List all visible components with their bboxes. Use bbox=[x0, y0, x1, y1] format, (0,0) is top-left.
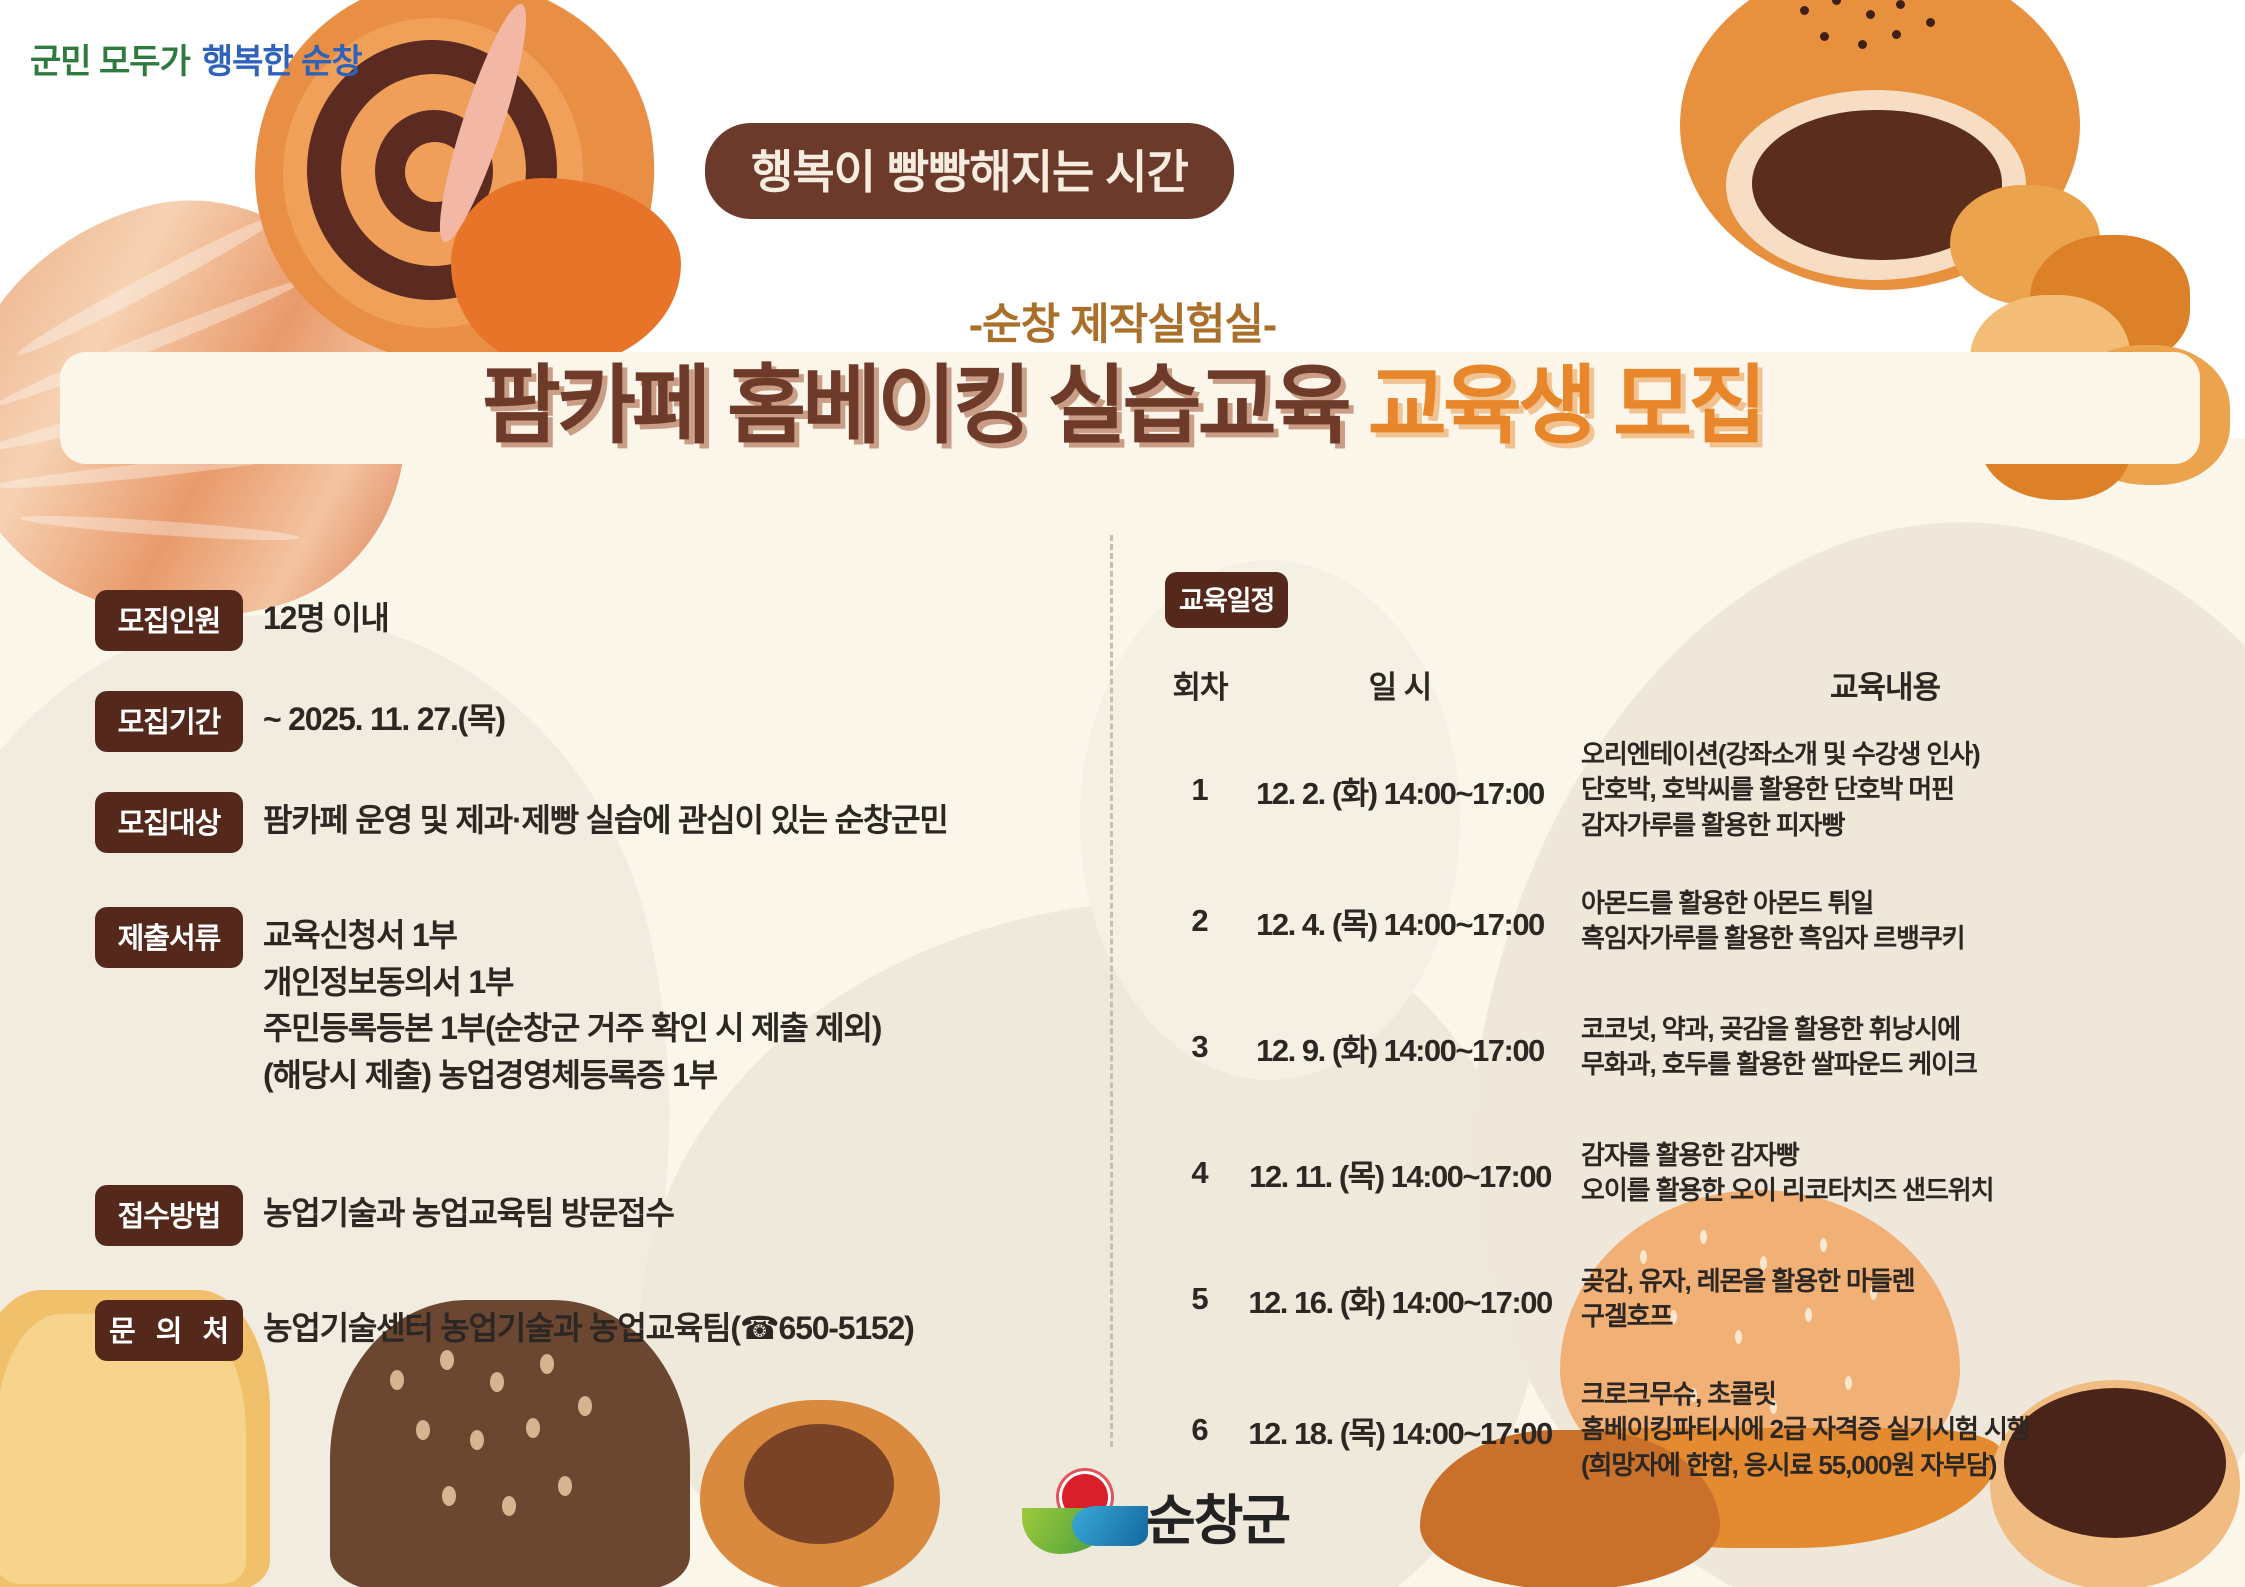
schedule-content-highlight: 피자빵 bbox=[1776, 810, 1844, 840]
info-row: 문 의 처 농업기술센터 농업기술과 농업교육팀(☎650-5152) bbox=[95, 1300, 1095, 1361]
schedule-session-number: 3 bbox=[1165, 1029, 1235, 1065]
poster-subtitle: -순창 제작실험실- bbox=[0, 290, 2245, 352]
info-row: 모집대상 팜카페 운영 및 제과·제빵 실습에 관심이 있는 순창군민 bbox=[95, 792, 1095, 853]
info-label: 모집인원 bbox=[95, 590, 243, 651]
page-title-brown: 팜카페 홈베이킹 실습교육 bbox=[482, 358, 1348, 454]
schedule-row: 212. 4. (목) 14:00~17:00아몬드를 활용한 아몬드 튀일흑임… bbox=[1165, 873, 2205, 969]
info-row: 모집인원 12명 이내 bbox=[95, 590, 1095, 651]
schedule-label: 교육일정 bbox=[1165, 572, 1288, 628]
schedule-content: 코코넛, 약과, 곶감을 활용한 휘낭시에무화과, 호두를 활용한 쌀파운드 케… bbox=[1565, 1012, 2205, 1083]
schedule-content-highlight: 구겔호프 bbox=[1581, 1301, 1672, 1331]
schedule-content-highlight: 휘낭시에 bbox=[1869, 1014, 1960, 1044]
page-title: 팜카페 홈베이킹 실습교육 교육생 모집 bbox=[0, 357, 2245, 456]
schedule-content-highlight: 흑임자 르뱅쿠키 bbox=[1799, 923, 1965, 953]
schedule-content-highlight: 감자빵 bbox=[1730, 1140, 1798, 1170]
schedule-content-line: 감자를 활용한 감자빵 bbox=[1581, 1138, 2205, 1173]
schedule-content-line: 무화과, 호두를 활용한 쌀파운드 케이크 bbox=[1581, 1047, 2205, 1082]
schedule-datetime: 12. 9. (화) 14:00~17:00 bbox=[1235, 1025, 1565, 1070]
poster-root: 군민 모두가행복한 순창 행복이 빵빵해지는 시간 -순창 제작실험실- 팜카페… bbox=[0, 0, 2245, 1587]
schedule-row: 512. 16. (화) 14:00~17:00곶감, 유자, 레몬을 활용한 … bbox=[1165, 1251, 2205, 1347]
schedule-content-highlight: 아몬드 튀일 bbox=[1753, 888, 1873, 918]
schedule-content-line: 코코넛, 약과, 곶감을 활용한 휘낭시에 bbox=[1581, 1012, 2205, 1047]
schedule-content-line: 단호박, 호박씨를 활용한 단호박 머핀 bbox=[1581, 772, 2205, 807]
info-value: 12명 이내 bbox=[263, 590, 389, 642]
schedule-content-highlight: 크로크무슈, 초콜릿 bbox=[1581, 1379, 1776, 1409]
schedule-content-line: 곶감, 유자, 레몬을 활용한 마들렌 bbox=[1581, 1264, 2205, 1299]
schedule-content: 크로크무슈, 초콜릿홈베이킹파티시에 2급 자격증 실기시험 시행(희망자에 한… bbox=[1565, 1377, 2205, 1483]
schedule-content-highlight: 쌀파운드 케이크 bbox=[1811, 1049, 1977, 1079]
schedule-content-line: 홈베이킹파티시에 2급 자격증 실기시험 시행 bbox=[1581, 1412, 2205, 1447]
vertical-divider bbox=[1110, 535, 1113, 1447]
county-name-text: 순창군 bbox=[1146, 1476, 1289, 1555]
schedule-content: 아몬드를 활용한 아몬드 튀일흑임자가루를 활용한 흑임자 르뱅쿠키 bbox=[1565, 886, 2205, 957]
schedule-content-line: 크로크무슈, 초콜릿 bbox=[1581, 1377, 2205, 1412]
schedule-content-line: 오이를 활용한 오이 리코타치즈 샌드위치 bbox=[1581, 1173, 2205, 1208]
tagline-badge: 행복이 빵빵해지는 시간 bbox=[705, 123, 1234, 219]
info-value: 팜카페 운영 및 제과·제빵 실습에 관심이 있는 순창군민 bbox=[263, 792, 948, 844]
info-row: 모집기간 ~ 2025. 11. 27.(목) bbox=[95, 691, 1095, 752]
county-logo: 순창군 bbox=[1020, 1472, 1289, 1558]
schedule-content: 오리엔테이션(강좌소개 및 수강생 인사)단호박, 호박씨를 활용한 단호박 머… bbox=[1565, 737, 2205, 843]
schedule-table-body: 112. 2. (화) 14:00~17:00오리엔테이션(강좌소개 및 수강생… bbox=[1165, 737, 2205, 1483]
schedule-row: 412. 11. (목) 14:00~17:00감자를 활용한 감자빵오이를 활… bbox=[1165, 1125, 2205, 1221]
info-label: 제출서류 bbox=[95, 907, 243, 968]
schedule-content-line: 아몬드를 활용한 아몬드 튀일 bbox=[1581, 886, 2205, 921]
schedule-datetime: 12. 2. (화) 14:00~17:00 bbox=[1235, 768, 1565, 813]
schedule-table-header: 회차 일 시 교육내용 bbox=[1165, 662, 2205, 707]
schedule-row: 612. 18. (목) 14:00~17:00크로크무슈, 초콜릿홈베이킹파티… bbox=[1165, 1377, 2205, 1483]
schedule-content-line: 오리엔테이션(강좌소개 및 수강생 인사) bbox=[1581, 737, 2205, 772]
column-header-datetime: 일 시 bbox=[1235, 662, 1565, 707]
info-label: 접수방법 bbox=[95, 1185, 243, 1246]
schedule-datetime: 12. 18. (목) 14:00~17:00 bbox=[1235, 1408, 1565, 1453]
schedule-datetime: 12. 4. (목) 14:00~17:00 bbox=[1235, 899, 1565, 944]
slogan-green-text: 군민 모두가 bbox=[30, 43, 190, 81]
info-value: 농업기술센터 농업기술과 농업교육팀(☎650-5152) bbox=[263, 1300, 913, 1352]
info-label: 모집대상 bbox=[95, 792, 243, 853]
info-row: 접수방법 농업기술과 농업교육팀 방문접수 bbox=[95, 1185, 1095, 1246]
schedule-session-number: 1 bbox=[1165, 772, 1235, 808]
info-value: 농업기술과 농업교육팀 방문접수 bbox=[263, 1185, 674, 1237]
schedule-content-highlight: 단호박 머핀 bbox=[1834, 774, 1954, 804]
schedule-datetime: 12. 11. (목) 14:00~17:00 bbox=[1235, 1151, 1565, 1196]
sunchang-emblem-icon bbox=[1020, 1472, 1130, 1558]
schedule-session-number: 4 bbox=[1165, 1155, 1235, 1191]
blue-wave-icon bbox=[1072, 1506, 1148, 1546]
schedule-session-number: 2 bbox=[1165, 903, 1235, 939]
column-header-no: 회차 bbox=[1165, 662, 1235, 707]
schedule-datetime: 12. 16. (화) 14:00~17:00 bbox=[1235, 1277, 1565, 1322]
schedule-content-line: 구겔호프 bbox=[1581, 1299, 2205, 1334]
schedule-session-number: 5 bbox=[1165, 1281, 1235, 1317]
schedule-content-highlight: 오이 리코타치즈 샌드위치 bbox=[1730, 1175, 1993, 1205]
info-label: 모집기간 bbox=[95, 691, 243, 752]
county-slogan: 군민 모두가행복한 순창 bbox=[30, 34, 362, 83]
info-row: 제출서류 교육신청서 1부 개인정보동의서 1부 주민등록등본 1부(순창군 거… bbox=[95, 907, 1095, 1099]
slogan-blue-text: 행복한 순창 bbox=[202, 43, 362, 81]
schedule-row: 112. 2. (화) 14:00~17:00오리엔테이션(강좌소개 및 수강생… bbox=[1165, 737, 2205, 843]
schedule-content: 곶감, 유자, 레몬을 활용한 마들렌구겔호프 bbox=[1565, 1264, 2205, 1335]
schedule-content-highlight: 홈베이킹파티시에 2급 자격증 실기시험 시행 bbox=[1581, 1414, 2030, 1444]
schedule-content-highlight: (희망자에 한함, 응시료 55,000원 자부담) bbox=[1581, 1450, 1996, 1480]
recruitment-info-list: 모집인원 12명 이내 모집기간 ~ 2025. 11. 27.(목) 모집대상… bbox=[95, 590, 1095, 1401]
schedule-session-number: 6 bbox=[1165, 1412, 1235, 1448]
info-value: ~ 2025. 11. 27.(목) bbox=[263, 691, 505, 743]
info-value: 교육신청서 1부 개인정보동의서 1부 주민등록등본 1부(순창군 거주 확인 … bbox=[263, 907, 881, 1099]
schedule-content-highlight: 마들렌 bbox=[1846, 1266, 1914, 1296]
schedule-content-line: (희망자에 한함, 응시료 55,000원 자부담) bbox=[1581, 1448, 2205, 1483]
schedule-content-line: 감자가루를 활용한 피자빵 bbox=[1581, 808, 2205, 843]
column-header-content: 교육내용 bbox=[1565, 662, 2205, 707]
schedule-section: 교육일정 회차 일 시 교육내용 112. 2. (화) 14:00~17:00… bbox=[1165, 572, 2205, 1483]
info-label: 문 의 처 bbox=[95, 1300, 243, 1361]
schedule-content-line: 흑임자가루를 활용한 흑임자 르뱅쿠키 bbox=[1581, 921, 2205, 956]
page-title-orange: 교육생 모집 bbox=[1368, 358, 1764, 454]
schedule-row: 312. 9. (화) 14:00~17:00코코넛, 약과, 곶감을 활용한 … bbox=[1165, 999, 2205, 1095]
schedule-content: 감자를 활용한 감자빵오이를 활용한 오이 리코타치즈 샌드위치 bbox=[1565, 1138, 2205, 1209]
